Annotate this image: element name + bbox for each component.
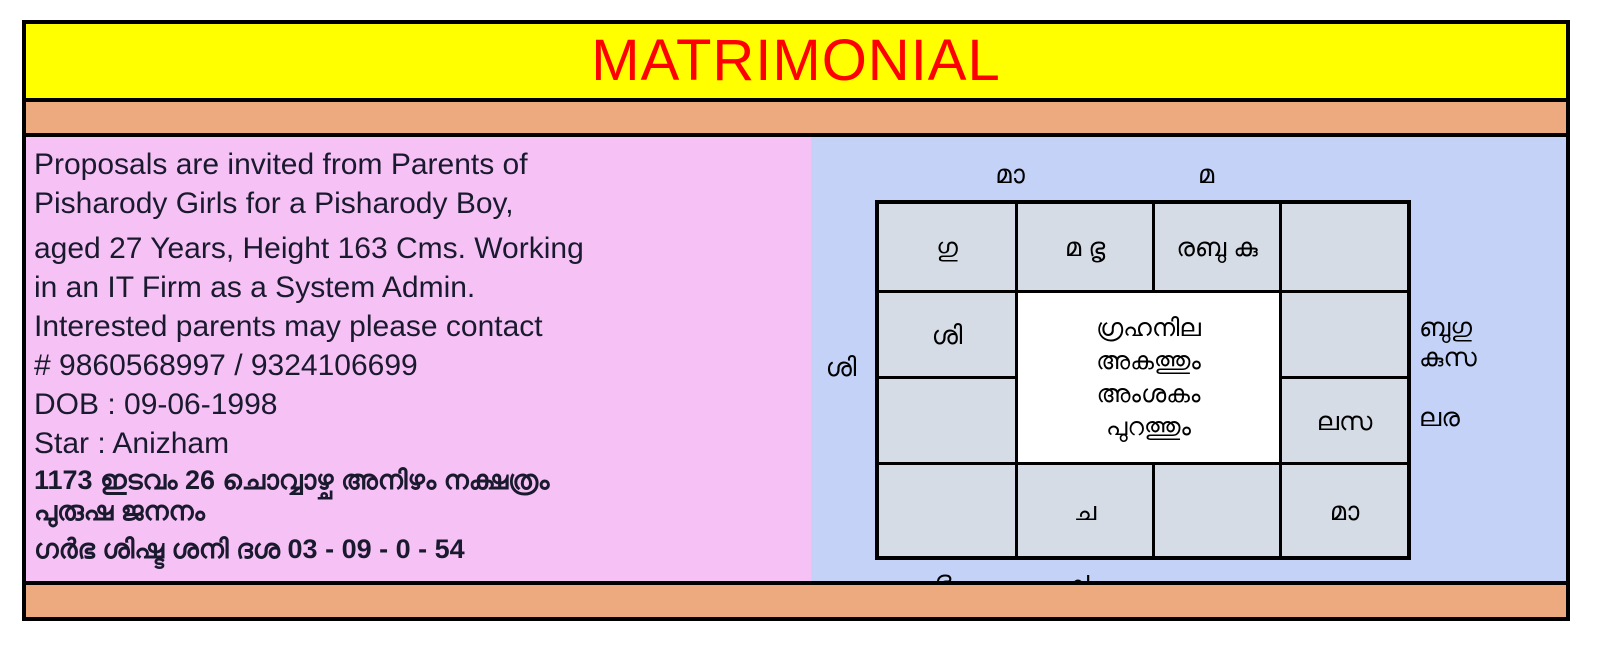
chart-cell-r2c4 — [1282, 293, 1407, 376]
horoscope-chart: ഗു മ ഭൃ രബു കു ശി ഗ്രഹനില അകത്തും അംശകം … — [875, 200, 1411, 560]
ad-line-5: Interested parents may please contact — [34, 307, 811, 346]
horoscope-grid: ഗു മ ഭൃ രബു കു ശി ഗ്രഹനില അകത്തും അംശകം … — [875, 200, 1411, 560]
matrimonial-poster: MATRIMONIAL Proposals are invited from P… — [22, 20, 1570, 621]
chart-center-label: ഗ്രഹനില അകത്തും അംശകം പുറത്തും — [1018, 293, 1279, 462]
chart-label-top-2: മ — [1141, 159, 1271, 189]
chart-cell-r4c1 — [879, 465, 1015, 556]
advertisement-panel: Proposals are invited from Parents of Pi… — [26, 137, 811, 581]
chart-cell-r3c4: ലസ — [1282, 379, 1407, 462]
ad-line-3: aged 27 Years, Height 163 Cms. Working — [34, 229, 811, 268]
malayalam-birth-details-line: 1173 ഇടവം 26 ചൊവ്വാഴ്ച അനിഴം നക്ഷത്രം — [34, 463, 811, 497]
chart-cell-r4c3 — [1155, 465, 1279, 556]
decorative-strip-top — [26, 102, 1566, 137]
chart-cell-r1c3: രബു കു — [1155, 204, 1279, 290]
ad-line-1: Proposals are invited from Parents of — [34, 145, 811, 184]
ad-line-4: in an IT Firm as a System Admin. — [34, 268, 811, 307]
content-area: Proposals are invited from Parents of Pi… — [26, 137, 1566, 581]
contact-phone-line: # 9860568997 / 9324106699 — [34, 346, 811, 385]
decorative-strip-bottom — [26, 581, 1566, 617]
chart-cell-r1c1: ഗു — [879, 204, 1015, 290]
horoscope-panel: മാ മ ശി ബുഗു കുസ ലര ഭൃ ച ഗു മ ഭൃ രബു കു … — [811, 137, 1566, 581]
dob-line: DOB : 09-06-1998 — [34, 385, 811, 424]
malayalam-dasha-line: ഗർഭ ശിഷ്ട ശനി ദശ 03 - 09 - 0 - 54 — [34, 532, 811, 566]
center-line-1: ഗ്രഹനില — [1096, 312, 1201, 345]
chart-cell-r3c1 — [879, 379, 1015, 462]
center-line-3: അംശകം — [1096, 378, 1200, 411]
chart-cell-r1c4 — [1282, 204, 1407, 290]
page-title: MATRIMONIAL — [591, 32, 1001, 90]
chart-label-right-2: ലര — [1419, 402, 1559, 432]
chart-cell-r4c4: മാ — [1282, 465, 1407, 556]
center-line-4: പുറത്തും — [1106, 411, 1191, 444]
ad-line-2: Pisharody Girls for a Pisharody Boy, — [34, 184, 811, 223]
chart-label-left-1: ശി — [811, 352, 871, 382]
chart-label-right-1: ബുഗു കുസ — [1419, 312, 1559, 372]
chart-label-top-1: മാ — [875, 159, 1145, 189]
malayalam-gender-line: പുരുഷ ജനനം — [34, 494, 811, 528]
chart-cell-r1c2: മ ഭൃ — [1018, 204, 1152, 290]
center-line-2: അകത്തും — [1096, 345, 1201, 378]
chart-cell-r4c2: ച — [1018, 465, 1152, 556]
title-banner: MATRIMONIAL — [26, 24, 1566, 102]
chart-cell-r2c1: ശി — [879, 293, 1015, 376]
star-line: Star : Anizham — [34, 424, 811, 463]
